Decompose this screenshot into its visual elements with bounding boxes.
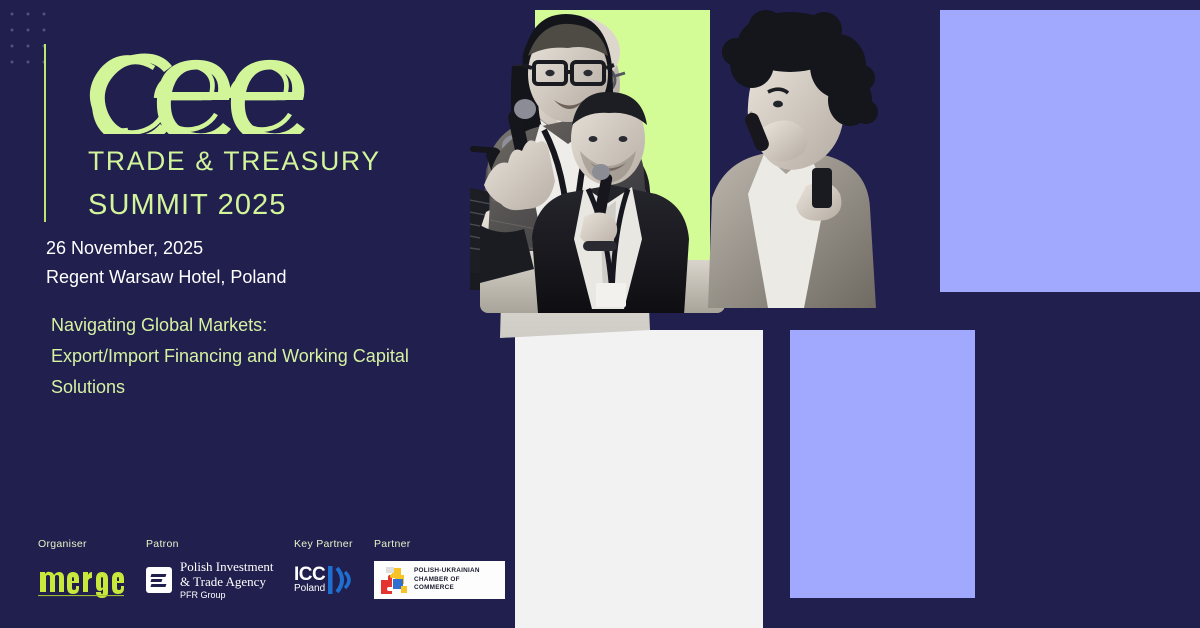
theme-line-1: Navigating Global Markets: — [51, 310, 451, 341]
merge-logo[interactable] — [38, 562, 124, 598]
event-meta: 26 November, 2025 Regent Warsaw Hotel, P… — [46, 234, 286, 292]
theme-line-2: Export/Import Financing and Working Capi… — [51, 341, 451, 372]
puc-line-1: POLISH-UKRAINIAN — [414, 567, 500, 576]
left-content-column: TRADE & TREASURY SUMMIT 2025 26 November… — [0, 0, 480, 628]
theme-line-3: Solutions — [51, 372, 451, 403]
polish-ukrainian-chamber-logo[interactable]: POLISH-UKRAINIAN CHAMBER OF COMMERCE — [374, 561, 505, 599]
cee-wordmark — [88, 42, 318, 134]
sponsor-label-partner: Partner — [374, 538, 534, 550]
event-logo: TRADE & TREASURY SUMMIT 2025 — [44, 42, 381, 222]
sponsor-patron: Patron Polish Investment & Trade Agency … — [146, 538, 294, 602]
event-theme: Navigating Global Markets: Export/Import… — [51, 310, 451, 403]
color-block-white — [515, 330, 763, 628]
puzzle-icon — [379, 566, 409, 594]
logo-subtitle-2: SUMMIT 2025 — [88, 189, 381, 222]
photo-collage — [470, 0, 1200, 628]
event-date: 26 November, 2025 — [46, 234, 286, 263]
polish-investment-trade-agency-logo[interactable]: Polish Investment & Trade Agency PFR Gro… — [146, 559, 274, 602]
sponsor-key-partner: Key Partner ICC Poland — [294, 538, 374, 602]
sponsor-label-key-partner: Key Partner — [294, 538, 374, 550]
logo-accent-rule — [44, 44, 46, 222]
logo-subtitle-1: TRADE & TREASURY — [88, 146, 381, 177]
pfr-line-3: PFR Group — [180, 589, 274, 602]
icc-arcs-icon — [328, 564, 354, 596]
pfr-line-2: & Trade Agency — [180, 574, 274, 589]
event-banner: TRADE & TREASURY SUMMIT 2025 26 November… — [0, 0, 1200, 628]
event-venue: Regent Warsaw Hotel, Poland — [46, 263, 286, 292]
sponsor-label-organiser: Organiser — [38, 538, 146, 550]
sponsor-row: Organiser — [38, 538, 534, 614]
speaker-photo-2 — [690, 8, 880, 308]
icc-line-2: Poland — [294, 583, 325, 595]
color-block-periwinkle-bottom — [790, 330, 975, 598]
sponsor-label-patron: Patron — [146, 538, 294, 550]
pfr-mark-icon — [146, 567, 172, 593]
pfr-line-1: Polish Investment — [180, 559, 274, 574]
color-block-periwinkle-top — [940, 10, 1200, 292]
sponsor-partner: Partner POLISH-UKRAINIAN CHAMBER OF COMM… — [374, 538, 534, 602]
puc-line-2: CHAMBER OF COMMERCE — [414, 576, 500, 593]
icc-line-1: ICC — [294, 566, 325, 583]
sponsor-organiser: Organiser — [38, 538, 146, 602]
icc-poland-logo[interactable]: ICC Poland — [294, 564, 354, 596]
